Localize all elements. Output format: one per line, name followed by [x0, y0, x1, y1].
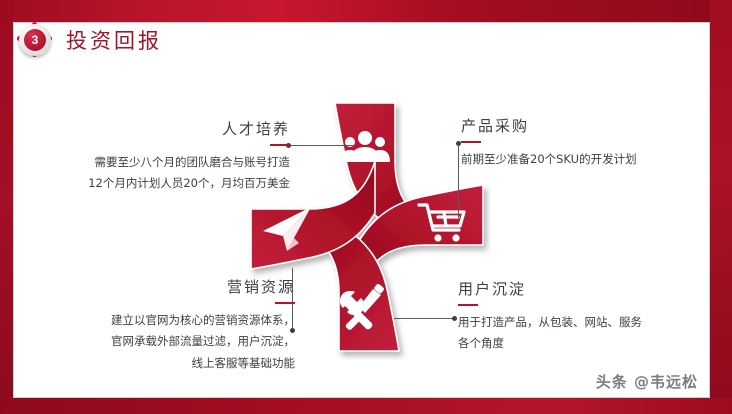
step-number: 3 [24, 29, 46, 51]
block-talent-line-1: 需要至少八个月的团队磨合与账号打造 [30, 152, 290, 173]
block-talent-rule [270, 144, 290, 146]
block-product-line-1: 前期至少准备20个SKU的开发计划 [461, 149, 691, 170]
block-user-heading: 用户沉淀 [458, 278, 688, 299]
frame-right-band [710, 0, 732, 414]
block-marketing-heading: 营销资源 [30, 276, 295, 297]
block-talent-heading: 人才培养 [30, 118, 290, 139]
page-title: 投资回报 [66, 25, 162, 55]
block-product: 产品采购 前期至少准备20个SKU的开发计划 [461, 115, 691, 170]
connector-talent-line [290, 145, 354, 146]
frame-left-band [0, 0, 13, 414]
watermark: 头条 @韦远松 [596, 371, 698, 392]
block-product-rule [461, 141, 481, 143]
block-user: 用户沉淀 用于打造产品，从包装、网站、服务 各个角度 [458, 278, 688, 355]
step-badge: 3 [18, 23, 52, 57]
block-marketing-line-3: 线上客服等基础功能 [30, 353, 295, 374]
block-marketing: 营销资源 建立以官网为核心的营销资源体系， 官网承载外部流量过滤，用户沉淀， 线… [30, 276, 295, 374]
block-user-line-2: 各个角度 [458, 333, 688, 354]
connector-user-line [394, 318, 456, 319]
slide-header: 3 投资回报 [18, 18, 418, 62]
connector-product-line [458, 144, 459, 218]
block-talent: 人才培养 需要至少八个月的团队磨合与账号打造 12个月内计划人员20个，月均百万… [30, 118, 290, 195]
block-marketing-line-2: 官网承载外部流量过滤，用户沉淀， [30, 331, 295, 352]
block-product-heading: 产品采购 [461, 115, 691, 136]
block-user-line-1: 用于打造产品，从包装、网站、服务 [458, 312, 688, 333]
block-user-rule [458, 304, 478, 306]
block-marketing-rule [275, 302, 295, 304]
slide-canvas: 3 投资回报 [0, 0, 732, 414]
block-marketing-line-1: 建立以官网为核心的营销资源体系， [30, 310, 295, 331]
block-talent-line-2: 12个月内计划人员20个，月均百万美金 [30, 173, 290, 194]
frame-bottom-band [0, 398, 732, 414]
connector-user-dot [452, 316, 457, 321]
